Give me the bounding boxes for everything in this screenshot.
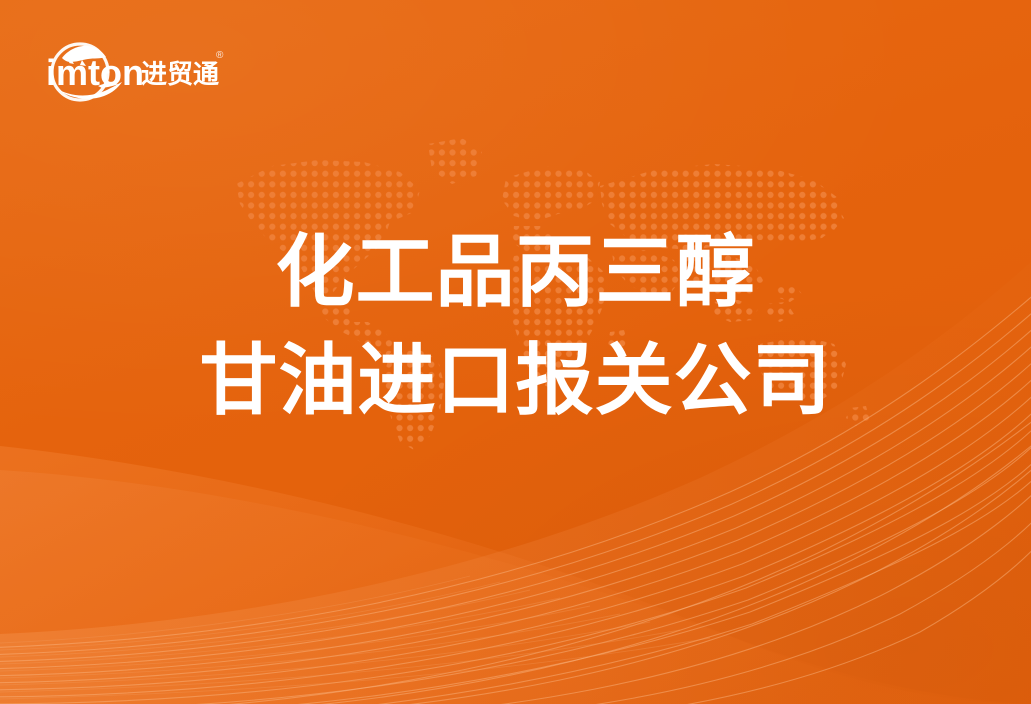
imton-logo[interactable]: imton 进贸通 ® [38, 28, 228, 102]
banner-canvas: imton 进贸通 ® 化工品丙三醇 甘油进口报关公司 [0, 0, 1031, 704]
headline-line-1: 化工品丙三醇 [0, 232, 1031, 311]
headline-line-2: 甘油进口报关公司 [0, 341, 1031, 419]
logo-latin-text: imton [46, 52, 144, 93]
headline-block: 化工品丙三醇 甘油进口报关公司 [0, 232, 1031, 419]
logo-chinese-text: 进贸通 [141, 59, 219, 89]
registered-trademark-icon: ® [216, 50, 224, 61]
